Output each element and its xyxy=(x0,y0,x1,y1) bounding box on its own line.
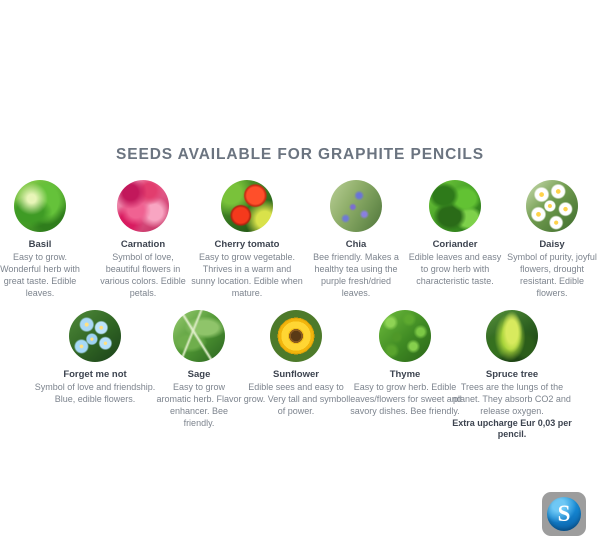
basil-thumbnail xyxy=(14,180,66,232)
seed-card[interactable]: DaisySymbol of purity, joyful flowers, d… xyxy=(504,180,600,299)
seed-name: Spruce tree xyxy=(450,369,574,381)
forget-me-not-thumbnail xyxy=(69,310,121,362)
seed-name: Sunflower xyxy=(242,369,350,381)
page-title: SEEDS AVAILABLE FOR GRAPHITE PENCILS xyxy=(0,146,600,164)
seed-card[interactable]: Forget me notSymbol of love and friendsh… xyxy=(34,310,156,406)
seed-description: Symbol of love and friendship. Blue, edi… xyxy=(34,382,156,406)
seed-card[interactable]: Cherry tomatoEasy to grow vegetable. Thr… xyxy=(190,180,304,299)
seed-card[interactable]: CarnationSymbol of love, beautiful flowe… xyxy=(97,180,189,299)
cherry-tomato-thumbnail xyxy=(221,180,273,232)
seed-card[interactable]: ThymeEasy to grow herb. Edible leaves/fl… xyxy=(348,310,462,418)
brand-letter: S xyxy=(558,502,571,525)
seed-upcharge-note: Extra upcharge Eur 0,03 per pencil. xyxy=(450,418,574,442)
carnation-thumbnail xyxy=(117,180,169,232)
thyme-thumbnail xyxy=(379,310,431,362)
seed-description: Easy to grow aromatic herb. Flavor enhan… xyxy=(156,382,242,430)
seed-name: Thyme xyxy=(348,369,462,381)
brand-disc-icon: S xyxy=(547,497,581,531)
seed-description: Edible leaves and easy to grow herb with… xyxy=(406,252,504,288)
seed-description: Trees are the lungs of the planet. They … xyxy=(450,382,574,418)
sunflower-thumbnail xyxy=(270,310,322,362)
coriander-thumbnail xyxy=(429,180,481,232)
seed-description: Easy to grow. Wonderful herb with great … xyxy=(0,252,81,300)
seed-name: Sage xyxy=(156,369,242,381)
seed-card[interactable]: SageEasy to grow aromatic herb. Flavor e… xyxy=(156,310,242,429)
seed-card[interactable]: BasilEasy to grow. Wonderful herb with g… xyxy=(0,180,81,299)
seed-description: Symbol of purity, joyful flowers, drough… xyxy=(504,252,600,300)
seed-name: Cherry tomato xyxy=(190,239,304,251)
seed-name: Chia xyxy=(306,239,406,251)
daisy-thumbnail xyxy=(526,180,578,232)
seed-description: Bee friendly. Makes a healthy tea using … xyxy=(306,252,406,300)
brand-badge[interactable]: S xyxy=(542,492,586,536)
seed-name: Basil xyxy=(0,239,81,251)
seed-name: Forget me not xyxy=(34,369,156,381)
seed-card[interactable]: SunflowerEdible sees and easy to grow. V… xyxy=(242,310,350,418)
seed-name: Daisy xyxy=(504,239,600,251)
spruce-tree-thumbnail xyxy=(486,310,538,362)
chia-thumbnail xyxy=(330,180,382,232)
seed-description: Edible sees and easy to grow. Very tall … xyxy=(242,382,350,418)
sage-thumbnail xyxy=(173,310,225,362)
seed-description: Easy to grow vegetable. Thrives in a war… xyxy=(190,252,304,300)
seed-name: Carnation xyxy=(97,239,189,251)
seed-card[interactable]: Spruce treeTrees are the lungs of the pl… xyxy=(450,310,574,441)
seed-name: Coriander xyxy=(406,239,504,251)
seed-description: Easy to grow herb. Edible leaves/flowers… xyxy=(348,382,462,418)
seed-card[interactable]: ChiaBee friendly. Makes a healthy tea us… xyxy=(306,180,406,299)
seed-card[interactable]: CorianderEdible leaves and easy to grow … xyxy=(406,180,504,288)
seed-description: Symbol of love, beautiful flowers in var… xyxy=(97,252,189,300)
